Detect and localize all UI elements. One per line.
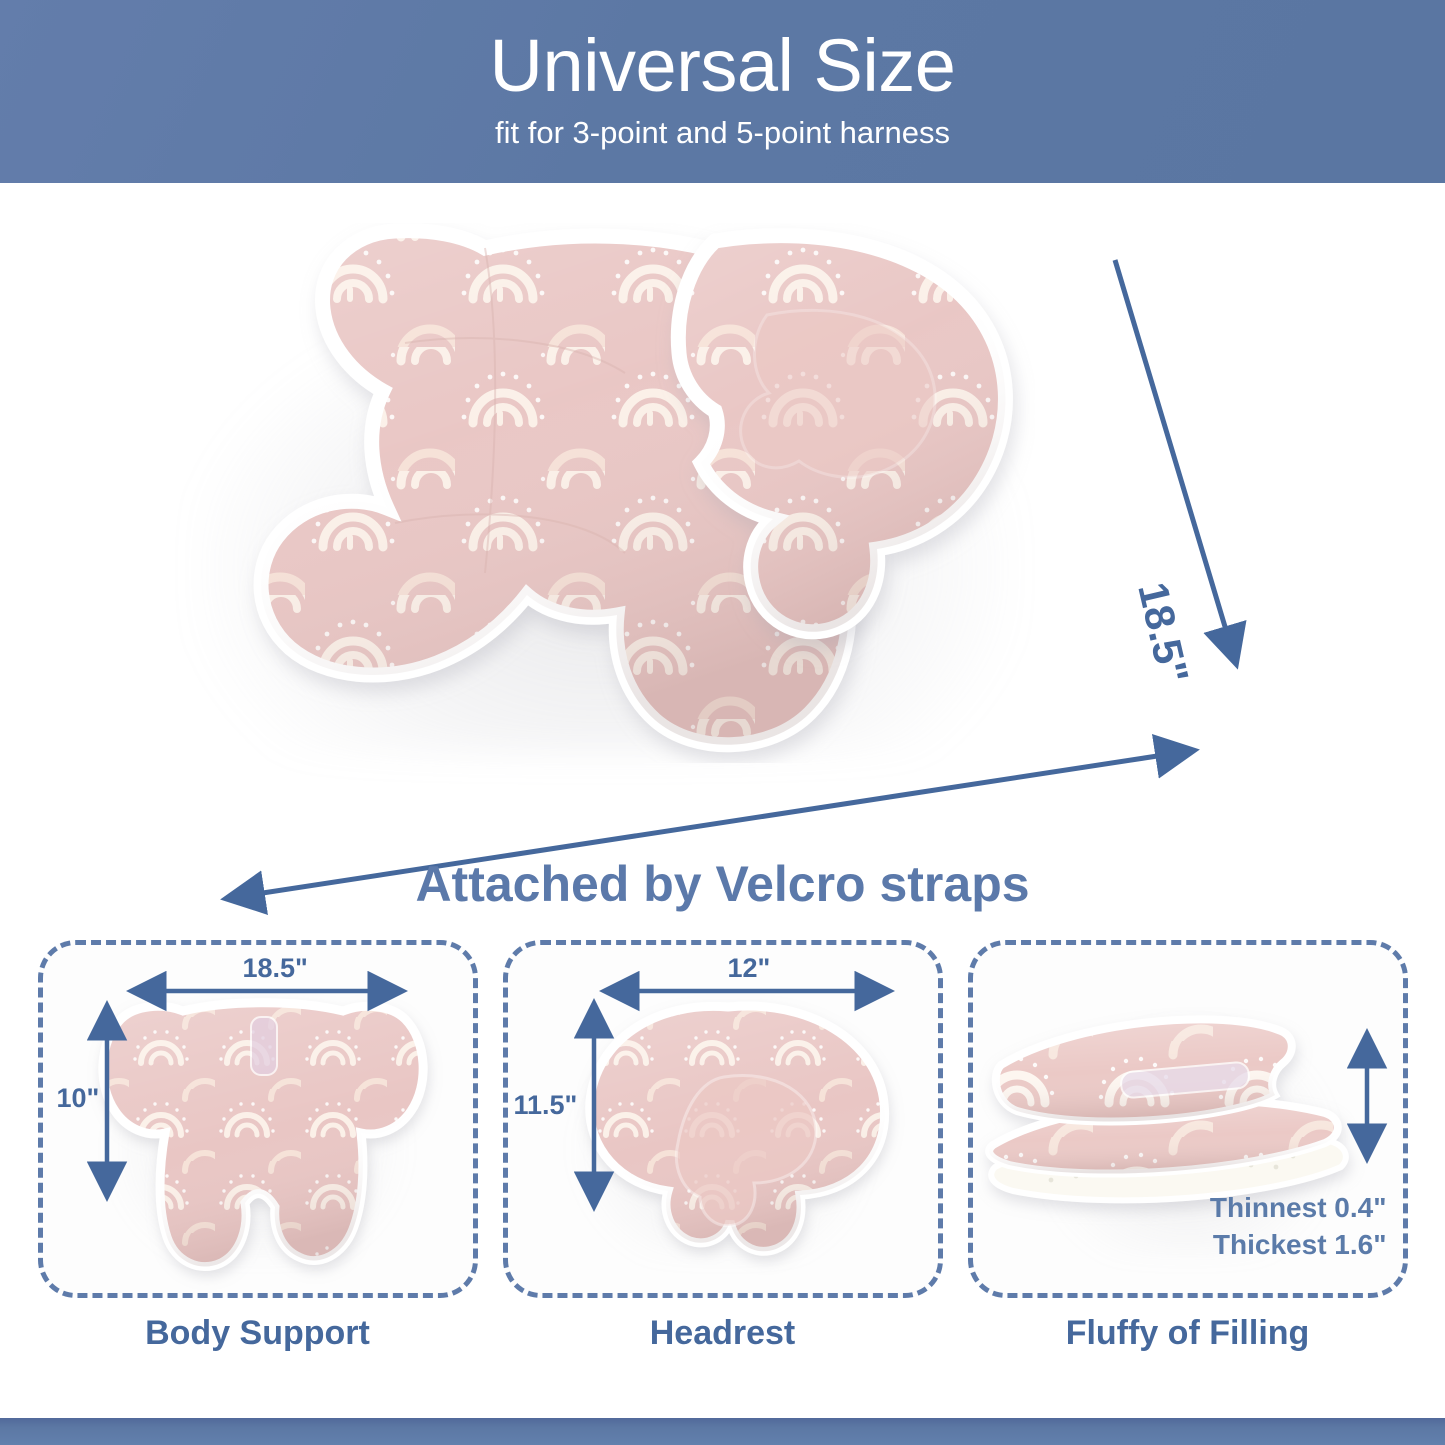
panel-headrest-box: 12" 11.5": [503, 940, 943, 1298]
panel-fluffy-of-filling: Thinnest 0.4" Thickest 1.6" Fluffy of Fi…: [968, 940, 1408, 1420]
thinnest-label: Thinnest 0.4": [1210, 1189, 1387, 1226]
footer-bar: [0, 1418, 1445, 1445]
thickest-label: Thickest 1.6": [1213, 1226, 1387, 1263]
panel2-height-label: 11.5": [514, 1090, 578, 1121]
page-title: Universal Size: [490, 24, 956, 108]
panel-body-support-box: 18.5" 10": [38, 940, 478, 1298]
panel1-width-label: 18.5": [243, 953, 308, 984]
panel-fluffy-box: Thinnest 0.4" Thickest 1.6": [968, 940, 1408, 1298]
panel1-height-label: 10": [57, 1083, 100, 1114]
infographic-page: Universal Size fit for 3-point and 5-poi…: [0, 0, 1445, 1445]
hero-dimension-arrows: [155, 223, 1445, 923]
panel2-width-label: 12": [728, 953, 771, 984]
panel1-dimension-arrows: [43, 945, 478, 1298]
header-banner: Universal Size fit for 3-point and 5-poi…: [0, 0, 1445, 183]
panel2-caption: Headrest: [650, 1314, 796, 1353]
feature-panels: 18.5" 10" Body Support: [0, 940, 1445, 1420]
panel-body-support: 18.5" 10" Body Support: [38, 940, 478, 1420]
hero-product-section: 18.5" 24": [0, 183, 1445, 938]
panel2-dimension-arrows: [508, 945, 943, 1298]
page-subtitle: fit for 3-point and 5-point harness: [495, 114, 950, 152]
panel1-caption: Body Support: [145, 1314, 370, 1353]
velcro-heading: Attached by Velcro straps: [0, 855, 1445, 913]
product-photo: [155, 223, 1035, 743]
panel3-caption: Fluffy of Filling: [1066, 1314, 1310, 1353]
panel-headrest: 12" 11.5" Headrest: [503, 940, 943, 1420]
